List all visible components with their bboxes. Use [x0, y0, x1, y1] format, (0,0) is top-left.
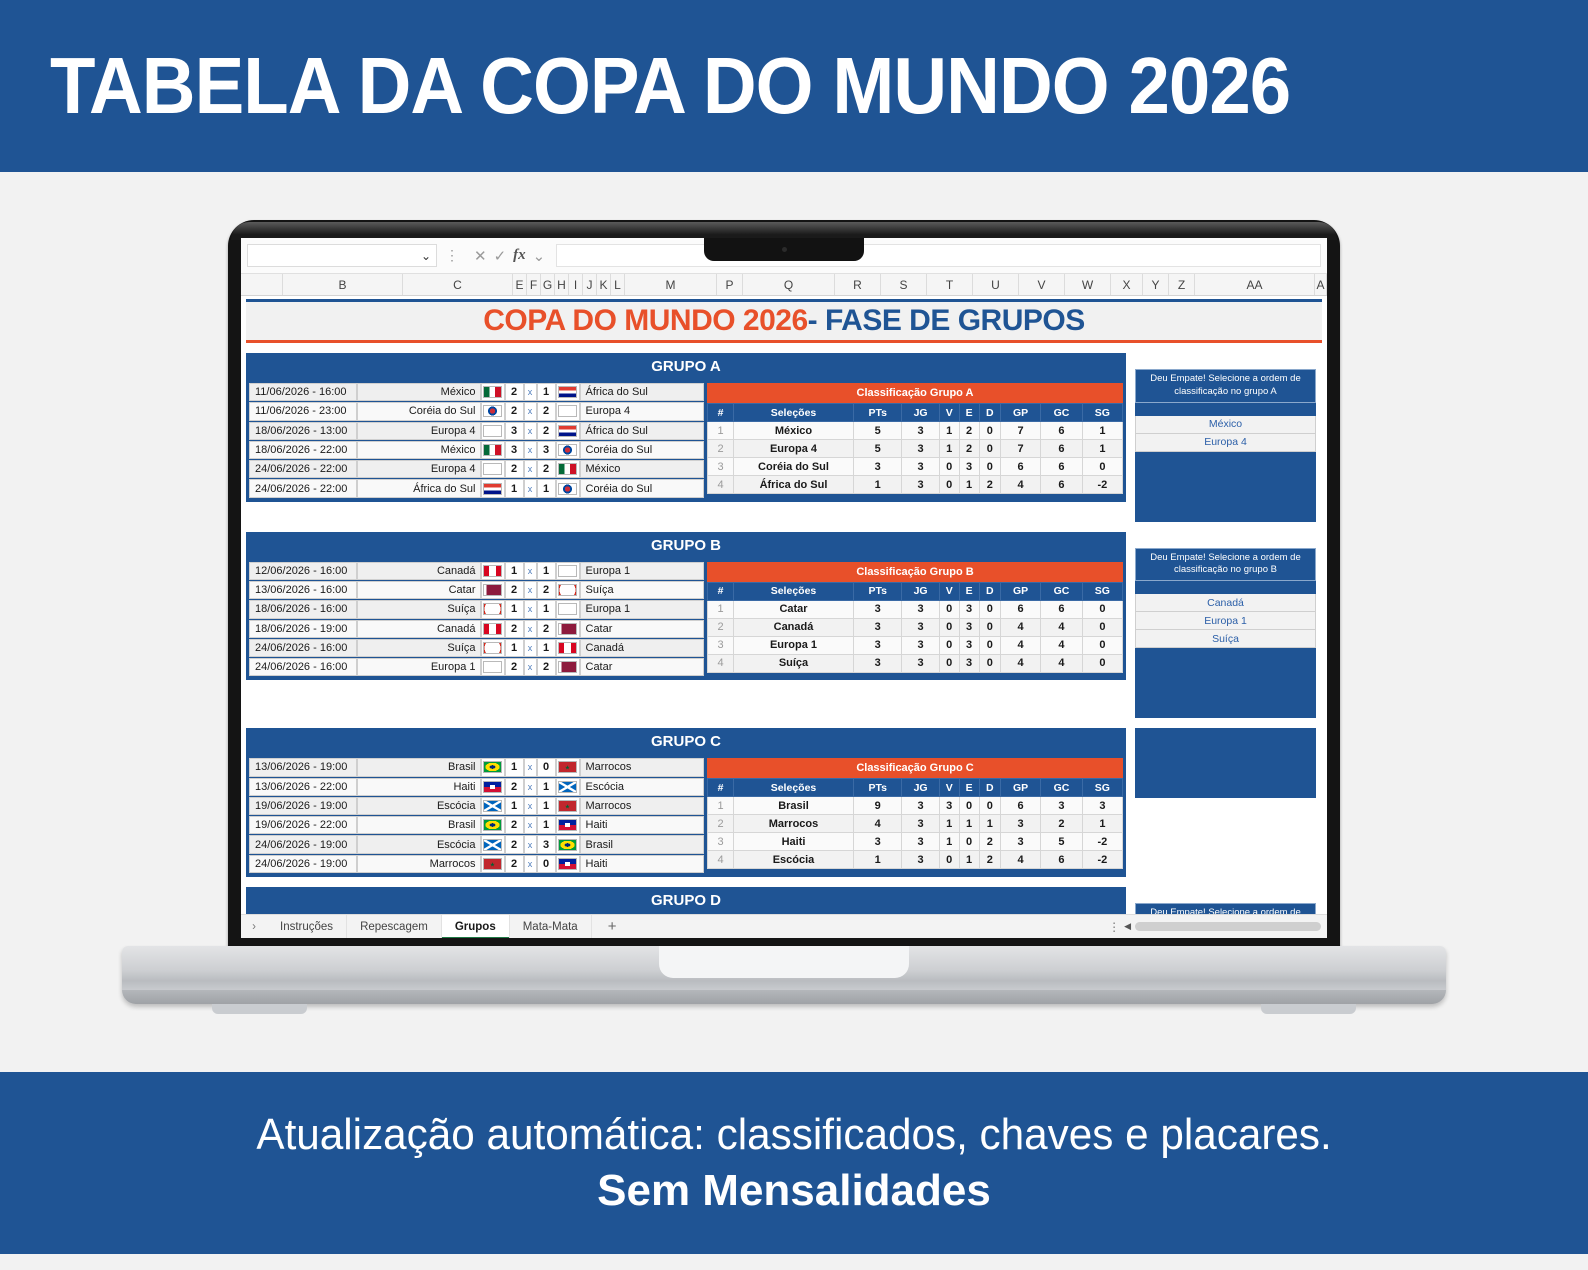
match-away-flag-cell — [556, 479, 580, 497]
standings-header-jg: JG — [902, 582, 939, 600]
chevron-down-icon[interactable]: ⌄ — [421, 249, 431, 263]
standings-team: Coréia do Sul — [734, 458, 854, 476]
standings-position: 2 — [708, 815, 734, 833]
standings-position: 2 — [708, 440, 734, 458]
match-away-flag-cell — [556, 835, 580, 853]
standings-stat: 0 — [979, 440, 1000, 458]
match-score-separator: x — [524, 620, 537, 638]
standings-team: Haiti — [734, 833, 854, 851]
standings-stat: -2 — [1082, 476, 1122, 494]
standings-row: 4Escócia1301246-2 — [708, 851, 1123, 869]
column-header-p[interactable]: P — [717, 274, 743, 295]
column-header-aa[interactable]: AA — [1195, 274, 1315, 295]
flag-icon-ma: ★ — [558, 761, 577, 773]
match-datetime: 12/06/2026 - 16:00 — [249, 562, 357, 580]
match-row: 11/06/2026 - 23:00Coréia do Sul2x2Europa… — [249, 402, 704, 420]
match-away-team: Marrocos — [580, 797, 705, 815]
match-away-flag-cell — [556, 581, 580, 599]
tiebreak-option[interactable]: Suíça — [1135, 630, 1316, 648]
match-home-score[interactable]: 3 — [505, 441, 524, 459]
match-score-separator: x — [524, 441, 537, 459]
flag-icon-ht — [558, 819, 577, 831]
standings-team: Suíça — [734, 654, 854, 672]
match-away-flag-cell — [556, 402, 580, 420]
tiebreak-spacer — [1135, 887, 1316, 903]
column-header-y[interactable]: Y — [1143, 274, 1169, 295]
flag-icon-ma: ★ — [558, 800, 577, 812]
match-score-separator: x — [524, 835, 537, 853]
standings-team: Catar — [734, 600, 854, 618]
match-row: 19/06/2026 - 22:00Brasil2x1Haiti — [249, 816, 704, 834]
match-away-score[interactable]: 1 — [537, 600, 556, 618]
match-away-score[interactable]: 1 — [537, 797, 556, 815]
column-header-b[interactable]: B — [283, 274, 403, 295]
match-list: 12/06/2026 - 16:00Canadá1x1Europa 113/06… — [249, 562, 704, 678]
standings-header-#: # — [708, 582, 734, 600]
match-away-score[interactable]: 1 — [537, 778, 556, 796]
column-header-x[interactable]: X — [1111, 274, 1143, 295]
match-row: 24/06/2026 - 16:00Europa 12x2Catar — [249, 658, 704, 676]
standings-stat: 0 — [959, 797, 979, 815]
standings-header-gc: GC — [1041, 779, 1083, 797]
standings-header-gc: GC — [1041, 582, 1083, 600]
column-header-i[interactable]: I — [569, 274, 583, 295]
flag-icon-blank — [558, 565, 577, 577]
group-panel: GRUPO C13/06/2026 - 19:00Brasil1x0★Marro… — [246, 728, 1126, 877]
standings-header-jg: JG — [902, 404, 939, 422]
match-home-score[interactable]: 3 — [505, 422, 524, 440]
formula-bar-input[interactable] — [556, 244, 1321, 267]
standings-header-v: V — [939, 404, 959, 422]
match-home-team: Brasil — [357, 816, 481, 834]
tiebreak-option[interactable]: México — [1135, 416, 1316, 434]
standings-stat: 6 — [1000, 600, 1040, 618]
match-datetime: 11/06/2026 - 23:00 — [249, 402, 357, 420]
column-header-j[interactable]: J — [583, 274, 597, 295]
bottom-tagline-primary: Atualização automática: classificados, c… — [256, 1110, 1331, 1160]
standings-stat: 0 — [939, 851, 959, 869]
match-row: 12/06/2026 - 16:00Canadá1x1Europa 1 — [249, 562, 704, 580]
flag-icon-blank — [558, 603, 577, 615]
column-header-f[interactable]: F — [527, 274, 541, 295]
standings-stat: 3 — [1000, 815, 1040, 833]
standings-row: 1Brasil93300633 — [708, 797, 1123, 815]
tiebreak-option[interactable]: Canadá — [1135, 594, 1316, 612]
standings-stat: 0 — [939, 458, 959, 476]
group-title: GRUPO B — [246, 532, 1126, 559]
standings-stat: 3 — [854, 636, 902, 654]
sheet-title: COPA DO MUNDO 2026 - FASE DE GRUPOS — [246, 299, 1322, 343]
standings-team: Europa 4 — [734, 440, 854, 458]
match-home-flag-cell — [481, 816, 505, 834]
bottom-banner: Atualização automática: classificados, c… — [0, 1072, 1588, 1254]
sheet-tab-grupos[interactable]: Grupos — [442, 915, 510, 939]
match-datetime: 18/06/2026 - 22:00 — [249, 441, 357, 459]
standings-stat: 3 — [854, 618, 902, 636]
match-away-score[interactable]: 3 — [537, 441, 556, 459]
match-away-team: Escócia — [580, 778, 705, 796]
standings-header-#: # — [708, 404, 734, 422]
column-header-t[interactable]: T — [927, 274, 973, 295]
sheet-title-orange: COPA DO MUNDO 2026 — [483, 304, 807, 338]
match-home-flag-cell — [481, 581, 505, 599]
standings-stat: 3 — [959, 458, 979, 476]
match-away-score[interactable]: 2 — [537, 581, 556, 599]
cancel-edit-icon[interactable]: ✕ — [474, 247, 487, 265]
match-datetime: 18/06/2026 - 13:00 — [249, 422, 357, 440]
standings-stat: 1 — [854, 476, 902, 494]
column-header-g[interactable]: G — [541, 274, 555, 295]
standings-stat: 4 — [1000, 654, 1040, 672]
group-panel: GRUPO B12/06/2026 - 16:00Canadá1x1Europa… — [246, 532, 1126, 719]
standings-position: 3 — [708, 458, 734, 476]
match-away-flag-cell — [556, 422, 580, 440]
match-row: 13/06/2026 - 19:00Brasil1x0★Marrocos — [249, 758, 704, 776]
standings-stat: 3 — [902, 476, 939, 494]
match-home-score[interactable]: 2 — [505, 402, 524, 420]
match-row: 13/06/2026 - 16:00Catar2x2Suíça — [249, 581, 704, 599]
match-home-score[interactable]: 2 — [505, 383, 524, 401]
standings-stat: 0 — [939, 476, 959, 494]
sheet-tab-instru--es[interactable]: Instruções — [267, 915, 347, 939]
standings-row: 1México53120761 — [708, 422, 1123, 440]
match-row: 18/06/2026 - 19:00Canadá2x2Catar — [249, 620, 704, 638]
sidebar-fill — [1135, 728, 1316, 798]
match-home-score[interactable]: 1 — [505, 562, 524, 580]
match-home-flag-cell — [481, 778, 505, 796]
match-home-score[interactable]: 2 — [505, 620, 524, 638]
standings-team: África do Sul — [734, 476, 854, 494]
match-away-team: Canadá — [580, 639, 705, 657]
match-home-flag-cell — [481, 460, 505, 478]
match-home-score[interactable]: 1 — [505, 797, 524, 815]
match-home-score[interactable]: 1 — [505, 639, 524, 657]
standings-stat: 1 — [1082, 815, 1122, 833]
match-row: 18/06/2026 - 16:00Suíça1x1Europa 1 — [249, 600, 704, 618]
add-sheet-button[interactable]: + — [592, 918, 633, 935]
tab-scroll-right-icon[interactable]: › — [241, 921, 267, 933]
standings-header-seleções: Seleções — [734, 404, 854, 422]
match-home-flag-cell — [481, 600, 505, 618]
standings-stat: 7 — [1000, 440, 1040, 458]
laptop-base — [122, 946, 1446, 1004]
match-home-score[interactable]: 2 — [505, 581, 524, 599]
match-away-score[interactable]: 2 — [537, 402, 556, 420]
match-away-team: Europa 1 — [580, 600, 705, 618]
match-home-score[interactable]: 1 — [505, 600, 524, 618]
match-away-score[interactable]: 2 — [537, 620, 556, 638]
standings-position: 4 — [708, 476, 734, 494]
match-away-score[interactable]: 2 — [537, 460, 556, 478]
column-header-u[interactable]: U — [973, 274, 1019, 295]
laptop-notch — [704, 238, 864, 261]
match-away-team: Suíça — [580, 581, 705, 599]
column-header-s[interactable]: S — [881, 274, 927, 295]
match-row: 18/06/2026 - 22:00México3x3Coréia do Sul — [249, 441, 704, 459]
standings-header-v: V — [939, 582, 959, 600]
flag-icon-za — [558, 425, 577, 437]
match-away-team: Brasil — [580, 835, 705, 853]
standings-title: Classificação Grupo B — [707, 562, 1123, 582]
sidebar-fill — [1135, 648, 1316, 718]
standings-header-seleções: Seleções — [734, 582, 854, 600]
match-list: 13/06/2026 - 19:00Brasil1x0★Marrocos13/0… — [249, 758, 704, 874]
insert-function-icon[interactable]: fx — [513, 247, 526, 264]
top-banner: TABELA DA COPA DO MUNDO 2026 — [0, 0, 1588, 172]
page-title: TABELA DA COPA DO MUNDO 2026 — [50, 40, 1290, 132]
standings-stat: 7 — [1000, 422, 1040, 440]
match-score-separator: x — [524, 639, 537, 657]
match-datetime: 18/06/2026 - 19:00 — [249, 620, 357, 638]
match-home-flag-cell — [481, 758, 505, 776]
match-away-flag-cell — [556, 778, 580, 796]
sheet-tab-mata-mata[interactable]: Mata-Mata — [510, 915, 592, 939]
match-home-team: Canadá — [357, 562, 481, 580]
standings-stat: 0 — [959, 833, 979, 851]
standings-stat: 0 — [979, 600, 1000, 618]
flag-icon-sc — [558, 781, 577, 793]
match-home-score[interactable]: 2 — [505, 835, 524, 853]
flag-icon-qa — [558, 623, 577, 635]
standings-stat: 3 — [902, 833, 939, 851]
flag-icon-ht — [483, 781, 502, 793]
group-body: 13/06/2026 - 19:00Brasil1x0★Marrocos13/0… — [246, 755, 1126, 877]
standings-stat: 1 — [979, 815, 1000, 833]
standings-stat: 1 — [854, 851, 902, 869]
standings-header-gc: GC — [1041, 404, 1083, 422]
standings-title: Classificação Grupo A — [707, 383, 1123, 403]
group-block-c: GRUPO C13/06/2026 - 19:00Brasil1x0★Marro… — [246, 728, 1322, 877]
standings-stat: 0 — [939, 618, 959, 636]
match-home-team: Europa 4 — [357, 422, 481, 440]
match-away-flag-cell — [556, 816, 580, 834]
match-home-score[interactable]: 2 — [505, 816, 524, 834]
match-score-separator: x — [524, 479, 537, 497]
standings-team: Canadá — [734, 618, 854, 636]
match-away-team: México — [580, 460, 705, 478]
column-header-l[interactable]: L — [611, 274, 625, 295]
scroll-left-icon[interactable]: ◀ — [1124, 921, 1131, 932]
standings-stat: 3 — [902, 600, 939, 618]
column-header-spacer: A — [1315, 274, 1327, 295]
confirm-edit-icon[interactable]: ✓ — [494, 247, 507, 265]
bottom-strip — [0, 1254, 1588, 1270]
chevron-down-icon[interactable]: ⌄ — [533, 247, 546, 265]
match-home-flag-cell: ★ — [481, 855, 505, 873]
standings-stat: 3 — [902, 654, 939, 672]
sidebar-fill — [1135, 452, 1316, 522]
match-score-separator: x — [524, 816, 537, 834]
standings-header-pts: PTs — [854, 582, 902, 600]
standings-header-v: V — [939, 779, 959, 797]
column-header-c[interactable]: C — [403, 274, 513, 295]
match-away-score[interactable]: 1 — [537, 816, 556, 834]
column-header-m[interactable]: M — [625, 274, 717, 295]
standings-stat: 3 — [902, 440, 939, 458]
standings-stat: 3 — [959, 600, 979, 618]
standings-stat: 1 — [939, 440, 959, 458]
group-body: 11/06/2026 - 16:00México2x1África do Sul… — [246, 380, 1126, 502]
match-datetime: 24/06/2026 - 22:00 — [249, 479, 357, 497]
flag-icon-mx — [483, 386, 502, 398]
standings-stat: 6 — [1041, 600, 1083, 618]
tiebreak-option[interactable]: Europa 1 — [1135, 612, 1316, 630]
standings-stat: 2 — [1041, 815, 1083, 833]
match-home-score[interactable]: 1 — [505, 758, 524, 776]
standings-team: México — [734, 422, 854, 440]
match-row: 24/06/2026 - 22:00Europa 42x2México — [249, 460, 704, 478]
match-home-score[interactable]: 2 — [505, 855, 524, 873]
column-header-r[interactable]: R — [835, 274, 881, 295]
match-datetime: 13/06/2026 - 16:00 — [249, 581, 357, 599]
standings-stat: 6 — [1041, 476, 1083, 494]
match-away-team: Coréia do Sul — [580, 479, 705, 497]
standings-stat: 2 — [959, 440, 979, 458]
standings-stat: 3 — [854, 654, 902, 672]
flag-icon-br — [483, 819, 502, 831]
standings-row: 3Coréia do Sul33030660 — [708, 458, 1123, 476]
group-panel: GRUPO A11/06/2026 - 16:00México2x1África… — [246, 353, 1126, 522]
standings-stat: 0 — [979, 797, 1000, 815]
column-header-e[interactable]: E — [513, 274, 527, 295]
standings-stat: 2 — [959, 422, 979, 440]
match-away-score[interactable]: 1 — [537, 383, 556, 401]
standings-stat: 3 — [959, 636, 979, 654]
match-home-score[interactable]: 2 — [505, 778, 524, 796]
match-home-team: Haiti — [357, 778, 481, 796]
flag-icon-sc — [483, 839, 502, 851]
standings-stat: 6 — [1041, 458, 1083, 476]
column-header-v[interactable]: V — [1019, 274, 1065, 295]
horizontal-scrollbar[interactable] — [1135, 922, 1321, 931]
standings-table: #SeleçõesPTsJGVEDGPGCSG1México531207612E… — [707, 403, 1123, 494]
more-options-icon[interactable]: ⋮ — [441, 247, 463, 264]
flag-icon-ca — [558, 642, 577, 654]
column-header-z[interactable]: Z — [1169, 274, 1195, 295]
standings-header-seleções: Seleções — [734, 779, 854, 797]
name-box[interactable]: ⌄ — [247, 244, 437, 267]
match-home-score[interactable]: 2 — [505, 658, 524, 676]
match-away-score[interactable]: 0 — [537, 758, 556, 776]
match-away-team: Haiti — [580, 855, 705, 873]
standings-stat: 6 — [1000, 797, 1040, 815]
laptop-stage: ⌄ ⋮ ✕ ✓ fx ⌄ BCEFGHIJKLMPQRSTUVWXYZAAA — [0, 172, 1588, 1072]
match-home-score[interactable]: 1 — [505, 479, 524, 497]
groups-container: GRUPO A11/06/2026 - 16:00México2x1África… — [241, 353, 1327, 916]
standings-header-#: # — [708, 779, 734, 797]
match-home-team: Europa 4 — [357, 460, 481, 478]
column-header-k[interactable]: K — [597, 274, 611, 295]
sheet-tab-repescagem[interactable]: Repescagem — [347, 915, 442, 939]
standings-position: 1 — [708, 797, 734, 815]
match-away-score[interactable]: 3 — [537, 835, 556, 853]
match-home-flag-cell — [481, 620, 505, 638]
standings-stat: 1 — [1082, 422, 1122, 440]
tiebreak-gap — [1135, 581, 1316, 594]
match-home-team: Coréia do Sul — [357, 402, 481, 420]
flag-icon-ca — [483, 565, 502, 577]
match-home-flag-cell — [481, 479, 505, 497]
standings-row: 2Europa 453120761 — [708, 440, 1123, 458]
standings-stat: 1 — [959, 815, 979, 833]
match-datetime: 13/06/2026 - 22:00 — [249, 778, 357, 796]
standings-stat: 0 — [1082, 636, 1122, 654]
standings-row: 1Catar33030660 — [708, 600, 1123, 618]
match-row: 11/06/2026 - 16:00México2x1África do Sul — [249, 383, 704, 401]
standings-stat: 0 — [939, 654, 959, 672]
match-row: 18/06/2026 - 13:00Europa 43x2África do S… — [249, 422, 704, 440]
match-datetime: 24/06/2026 - 19:00 — [249, 835, 357, 853]
column-header-h[interactable]: H — [555, 274, 569, 295]
laptop-foot-right — [1261, 1004, 1356, 1014]
standings-stat: 4 — [1041, 636, 1083, 654]
standings-stat: 0 — [979, 422, 1000, 440]
sheet-tabs: InstruçõesRepescagemGruposMata-Mata — [267, 915, 592, 939]
standings-stat: 0 — [979, 636, 1000, 654]
standings-stat: 5 — [854, 422, 902, 440]
match-away-team: Catar — [580, 620, 705, 638]
match-home-team: Marrocos — [357, 855, 481, 873]
standings-stat: 6 — [1041, 440, 1083, 458]
match-home-score[interactable]: 2 — [505, 460, 524, 478]
match-row: 19/06/2026 - 19:00Escócia1x1★Marrocos — [249, 797, 704, 815]
tab-overflow-icon[interactable]: ⋮ — [1108, 920, 1120, 934]
svg-text:★: ★ — [565, 803, 570, 810]
match-away-team: Haiti — [580, 816, 705, 834]
match-away-score[interactable]: 0 — [537, 855, 556, 873]
match-away-flag-cell — [556, 620, 580, 638]
standings-stat: 3 — [854, 833, 902, 851]
tiebreak-option[interactable]: Europa 4 — [1135, 434, 1316, 452]
match-away-flag-cell — [556, 639, 580, 657]
match-home-team: Canadá — [357, 620, 481, 638]
match-away-team: Coréia do Sul — [580, 441, 705, 459]
match-home-flag-cell — [481, 441, 505, 459]
standings-stat: 6 — [1041, 851, 1083, 869]
standings-stat: 3 — [902, 618, 939, 636]
match-away-score[interactable]: 2 — [537, 658, 556, 676]
match-away-score[interactable]: 2 — [537, 422, 556, 440]
match-away-flag-cell — [556, 658, 580, 676]
match-away-team: África do Sul — [580, 383, 705, 401]
match-row: 13/06/2026 - 22:00Haiti2x1Escócia — [249, 778, 704, 796]
webcam-icon — [782, 247, 787, 252]
standings-stat: 0 — [939, 600, 959, 618]
match-away-score[interactable]: 1 — [537, 479, 556, 497]
column-header-q[interactable]: Q — [743, 274, 835, 295]
standings-stat: 0 — [1082, 600, 1122, 618]
match-home-team: México — [357, 441, 481, 459]
standings-position: 1 — [708, 600, 734, 618]
match-away-score[interactable]: 1 — [537, 562, 556, 580]
flag-icon-za — [558, 386, 577, 398]
column-header-w[interactable]: W — [1065, 274, 1111, 295]
match-home-team: Escócia — [357, 797, 481, 815]
standings-stat: 9 — [854, 797, 902, 815]
standings-position: 1 — [708, 422, 734, 440]
standings-stat: 4 — [854, 815, 902, 833]
standings-stat: 3 — [902, 422, 939, 440]
match-datetime: 18/06/2026 - 16:00 — [249, 600, 357, 618]
standings-position: 4 — [708, 851, 734, 869]
flag-icon-sc — [483, 800, 502, 812]
standings-row: 3Haiti3310235-2 — [708, 833, 1123, 851]
match-home-flag-cell — [481, 562, 505, 580]
standings-stat: 3 — [854, 600, 902, 618]
tiebreak-panel: Deu Empate! Selecione a ordem de classif… — [1126, 532, 1316, 719]
match-away-score[interactable]: 1 — [537, 639, 556, 657]
standings-stat: -2 — [1082, 833, 1122, 851]
